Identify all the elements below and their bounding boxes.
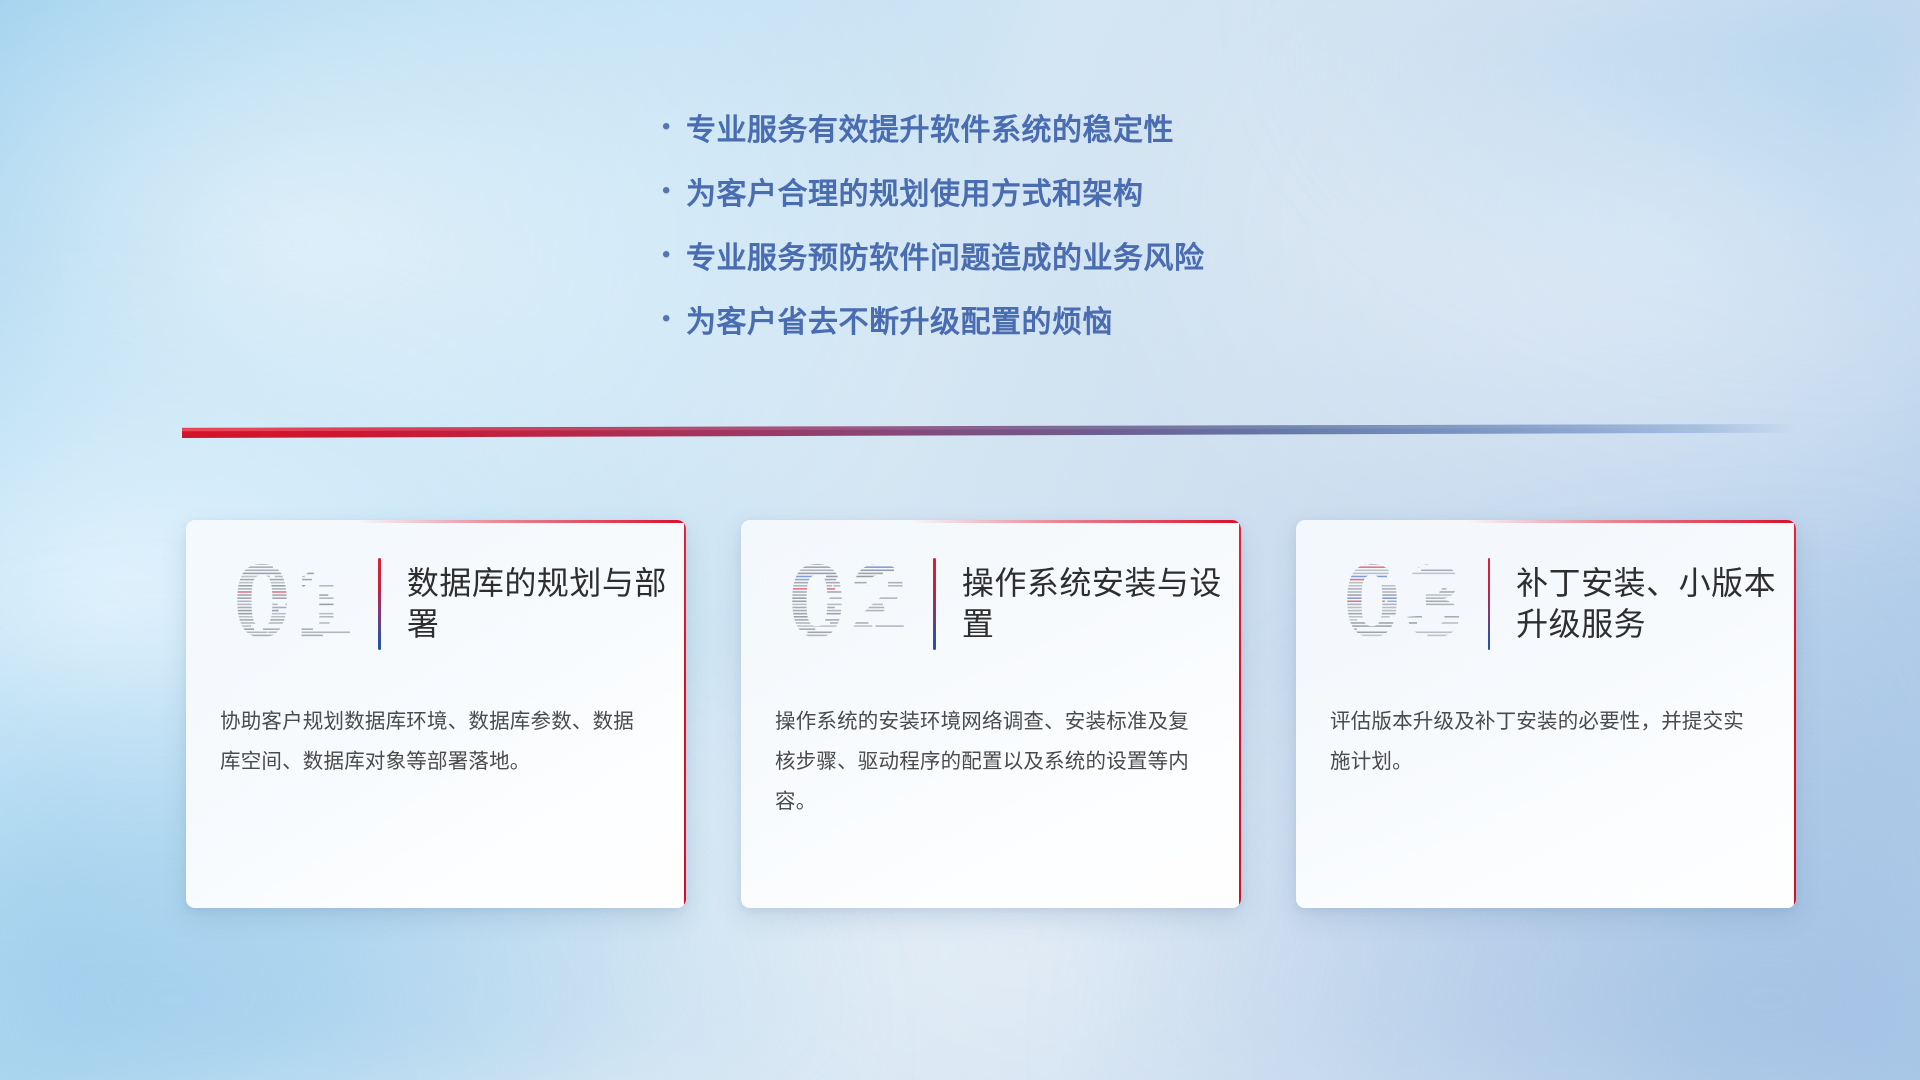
- list-item: • 为客户省去不断升级配置的烦恼: [660, 297, 1205, 341]
- card-title: 补丁安装、小版本升级服务: [1516, 563, 1796, 645]
- list-item: • 为客户合理的规划使用方式和架构: [660, 169, 1205, 213]
- card-header: 01 数据库的规划与部署: [186, 520, 686, 688]
- list-item: • 专业服务有效提升软件系统的稳定性: [660, 105, 1205, 149]
- bullet-marker-icon: •: [660, 179, 686, 203]
- bullet-marker-icon: •: [660, 307, 686, 331]
- bullet-marker-icon: •: [660, 115, 686, 139]
- service-card-group: 01 数据库的规划与部署 协助客户规划数据库环境、数据库参数、数据库空间、数据库…: [186, 520, 1796, 908]
- card-header: 02 操作系统安装与设置: [741, 520, 1241, 688]
- bullet-marker-icon: •: [660, 243, 686, 267]
- card-title: 数据库的规划与部署: [407, 563, 686, 645]
- card-number-striped-icon: 01: [220, 550, 370, 658]
- benefits-bullet-list: • 专业服务有效提升软件系统的稳定性 • 为客户合理的规划使用方式和架构 • 专…: [660, 105, 1205, 341]
- bullet-text: 专业服务预防软件问题造成的业务风险: [686, 233, 1205, 277]
- background-tint-top-right: [1267, 0, 1920, 367]
- card-title: 操作系统安装与设置: [962, 563, 1241, 645]
- card-title-divider: [378, 558, 381, 650]
- bullet-text: 为客户省去不断升级配置的烦恼: [686, 297, 1113, 341]
- bullet-text: 专业服务有效提升软件系统的稳定性: [686, 105, 1174, 149]
- card-number-striped-icon: 02: [775, 550, 925, 658]
- card-number-striped-icon: 03: [1330, 550, 1480, 658]
- service-card[interactable]: 03 补丁安装、小版本升级服务 评估版本升级及补丁安装的必要性，并提交实施计划。: [1296, 520, 1796, 908]
- card-body-text: 操作系统的安装环境网络调查、安装标准及复核步骤、驱动程序的配置以及系统的设置等内…: [741, 688, 1241, 822]
- service-card[interactable]: 01 数据库的规划与部署 协助客户规划数据库环境、数据库参数、数据库空间、数据库…: [186, 520, 686, 908]
- card-title-divider: [933, 558, 936, 650]
- bullet-text: 为客户合理的规划使用方式和架构: [686, 169, 1144, 213]
- service-card[interactable]: 02 操作系统安装与设置 操作系统的安装环境网络调查、安装标准及复核步骤、驱动程…: [741, 520, 1241, 908]
- card-title-divider: [1488, 558, 1490, 650]
- card-header: 03 补丁安装、小版本升级服务: [1296, 520, 1796, 688]
- section-divider: [182, 424, 1798, 438]
- card-body-text: 评估版本升级及补丁安装的必要性，并提交实施计划。: [1296, 688, 1796, 782]
- list-item: • 专业服务预防软件问题造成的业务风险: [660, 233, 1205, 277]
- card-body-text: 协助客户规划数据库环境、数据库参数、数据库空间、数据库对象等部署落地。: [186, 688, 686, 782]
